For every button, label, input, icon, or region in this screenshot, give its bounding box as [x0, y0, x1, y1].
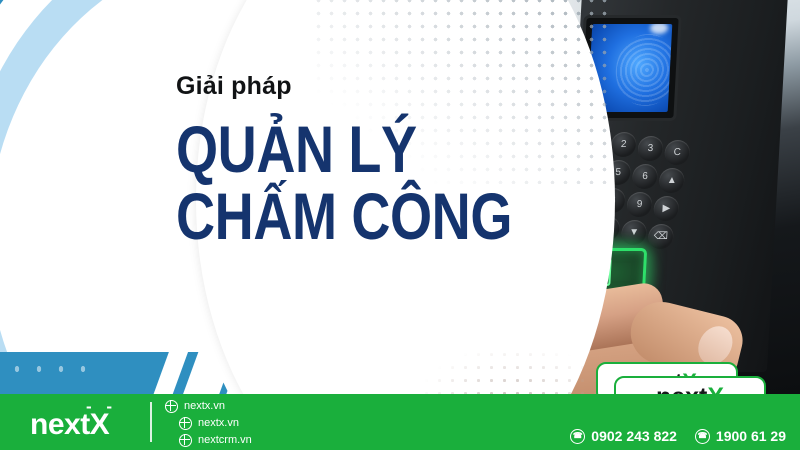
headline-line-1: QUẢN LÝ	[176, 112, 417, 186]
footer-brand-logo: nextX	[30, 408, 109, 442]
footer-site-label: nextx.vn	[198, 415, 239, 431]
globe-icon	[179, 417, 192, 430]
keypad-key: C	[664, 140, 690, 165]
footer-phone-hotline[interactable]: ☎ 1900 61 29	[695, 428, 786, 444]
footer-site-link[interactable]: nextx.vn	[165, 398, 252, 414]
keypad-key: ▲	[659, 168, 685, 193]
keypad-key: ▶	[653, 196, 679, 221]
globe-icon	[179, 434, 192, 447]
footer-phone-number: 1900 61 29	[716, 428, 786, 444]
screen-glare	[650, 24, 669, 34]
eyebrow-text: Giải pháp	[176, 72, 536, 101]
footer-phone-number: 0902 243 822	[591, 428, 677, 444]
hotline-icon: ☎	[695, 429, 710, 444]
globe-icon	[165, 400, 178, 413]
footer-site-label: nextcrm.vn	[198, 432, 252, 448]
headline-line-2: CHẤM CÔNG	[176, 186, 471, 247]
footer-site-link[interactable]: nextx.vn	[179, 415, 252, 431]
strip-dot-pattern	[0, 352, 96, 396]
footer-site-list: nextx.vn nextx.vn nextcrm.vn	[165, 398, 252, 449]
footer-site-label: nextx.vn	[184, 398, 225, 414]
fingerprint-graphic-icon	[614, 34, 672, 106]
footer-site-link[interactable]: nextcrm.vn	[179, 432, 252, 448]
headline-block: Giải pháp QUẢN LÝ CHẤM CÔNG	[176, 72, 536, 246]
footer-bar: - - nextX nextx.vn nextx.vn nextcrm.vn ☎…	[0, 394, 800, 450]
keypad-key: 3	[637, 136, 663, 161]
keypad-key: 2	[611, 132, 637, 157]
marketing-banner: 1 2 3 C 4 5 6 ▲ 7 8 9 ▶ ◀ 0 ▼ ⌫	[0, 0, 800, 450]
keypad-key: 6	[632, 164, 658, 189]
footer-phone-list: ☎ 0902 243 822 ☎ 1900 61 29	[570, 428, 786, 444]
phone-icon: ☎	[570, 429, 585, 444]
keypad-key: 9	[626, 192, 652, 217]
headline: QUẢN LÝ CHẤM CÔNG	[176, 119, 471, 246]
footer-divider	[150, 402, 152, 442]
footer-phone-mobile[interactable]: ☎ 0902 243 822	[570, 428, 677, 444]
bottom-middle-dot-pattern	[420, 348, 610, 398]
